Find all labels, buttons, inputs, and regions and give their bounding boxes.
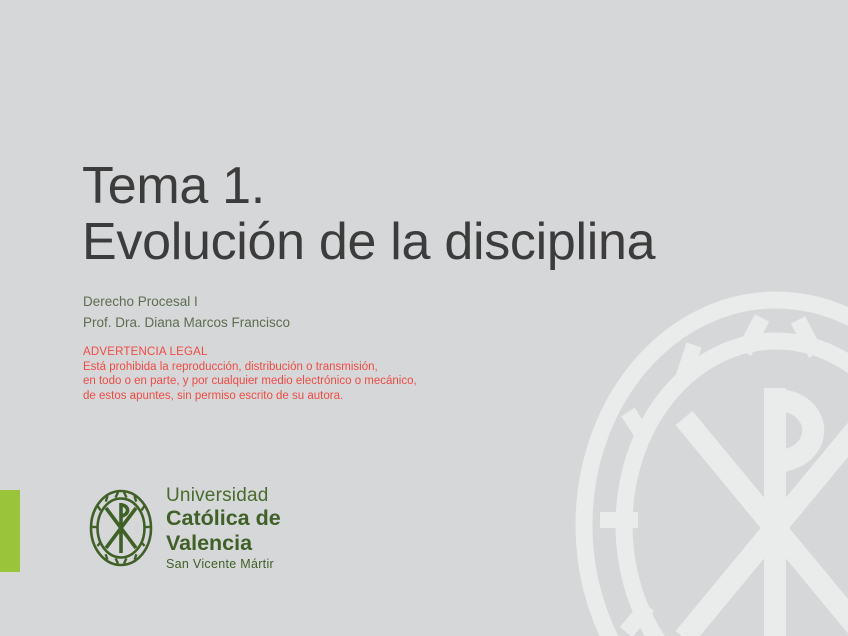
presentation-slide: Tema 1. Evolución de la disciplina Derec… [0, 0, 848, 636]
legal-notice: ADVERTENCIA LEGAL Está prohibida la repr… [83, 345, 417, 403]
author-name: Prof. Dra. Diana Marcos Francisco [83, 312, 290, 333]
legal-notice-heading: ADVERTENCIA LEGAL [83, 345, 417, 360]
legal-notice-line-2: en todo o en parte, y por cualquier medi… [83, 374, 417, 389]
accent-bar [0, 490, 20, 572]
subtitle: Derecho Procesal I Prof. Dra. Diana Marc… [83, 291, 290, 333]
course-name: Derecho Procesal I [83, 291, 290, 312]
chi-rho-oval-emblem-watermark [566, 290, 848, 636]
title-line-1: Tema 1. [82, 158, 782, 214]
page-title: Tema 1. Evolución de la disciplina [82, 158, 782, 270]
university-logo-text: Universidad Católica de Valencia San Vic… [166, 486, 281, 571]
logo-line-valencia: Valencia [166, 533, 281, 555]
legal-notice-line-1: Está prohibida la reproducción, distribu… [83, 360, 417, 375]
title-line-2: Evolución de la disciplina [82, 214, 782, 270]
legal-notice-line-3: de estos apuntes, sin permiso escrito de… [83, 389, 417, 404]
logo-line-universidad: Universidad [166, 486, 281, 505]
chi-rho-oval-emblem-icon [88, 488, 154, 568]
logo-line-catolica: Católica de [166, 508, 281, 530]
logo-line-san-vicente-martir: San Vicente Mártir [166, 558, 281, 571]
university-logo: Universidad Católica de Valencia San Vic… [88, 486, 281, 571]
